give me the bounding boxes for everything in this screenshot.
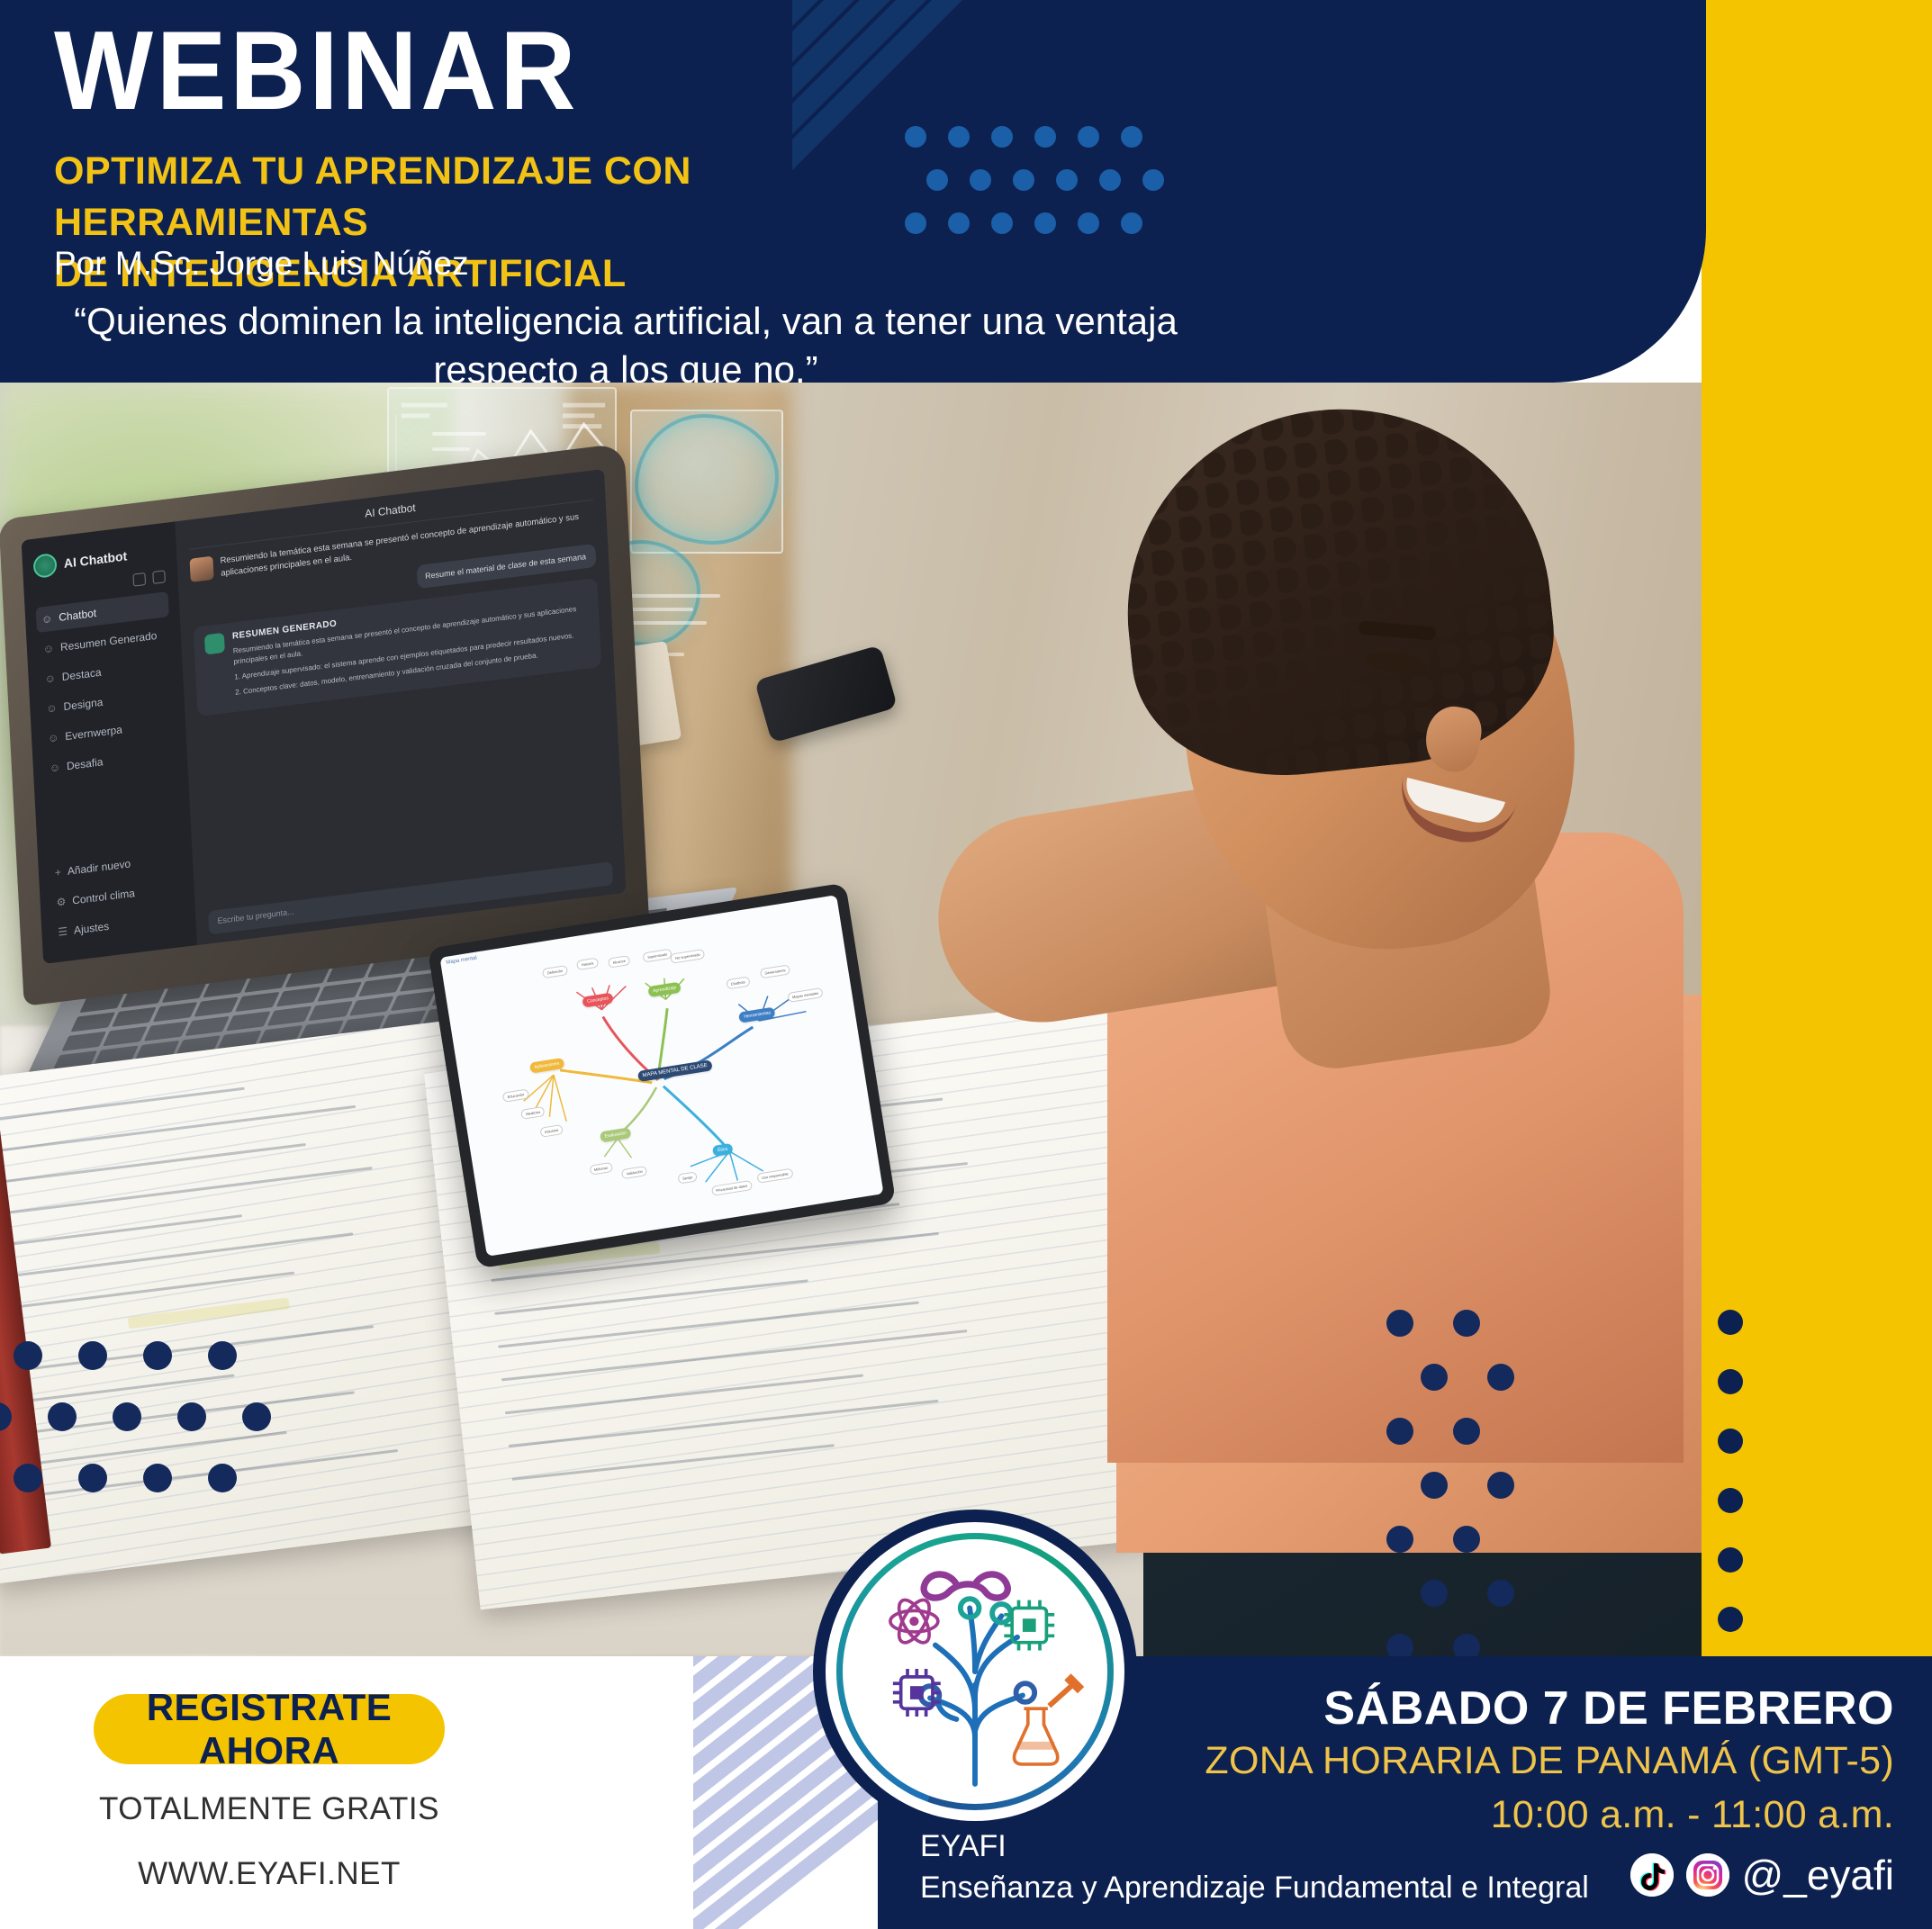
sidebar-item-label: Ajustes	[74, 920, 110, 937]
refresh-icon[interactable]	[152, 570, 166, 584]
generated-summary-card: RESUMEN GENERADO Resumiendo la temática …	[193, 578, 601, 717]
sidebar-item-label: Resumen Generado	[60, 629, 158, 654]
chatbot-sidebar: AI Chatbot ☺ Chatbot ☺ Resumen Gener	[22, 522, 197, 964]
sidebar-item-label: Destaca	[61, 666, 101, 683]
social-handle[interactable]: @_eyafi	[1742, 1851, 1894, 1899]
photo-dots-bottom-left	[14, 1341, 338, 1525]
hero-photo: AI Chatbot ☺ Chatbot ☺ Resumen Gener	[0, 383, 1702, 1656]
logo-gradient-ring	[836, 1533, 1114, 1810]
sidebar-item-label: Chatbot	[59, 607, 96, 624]
sparkle-icon	[204, 633, 225, 655]
tablet-screen: Mapa mental	[439, 895, 883, 1257]
chat-icon: ☺	[41, 612, 53, 626]
presenter-name: Por M.Sc. Jorge Luis Núñez	[54, 245, 469, 283]
gear-icon: ⚙	[56, 895, 66, 908]
subtitle-line-1: OPTIMIZA TU APRENDIZAJE CON HERRAMIENTAS	[54, 146, 954, 248]
sidebar-item-label: Añadir nuevo	[68, 857, 131, 878]
chat-icon: ☺	[50, 761, 61, 775]
tiktok-icon[interactable]	[1630, 1853, 1674, 1897]
chat-input[interactable]: Escribe tu pregunta...	[208, 861, 613, 934]
logo-outer-ring	[813, 1510, 1137, 1834]
quote-text: “Quienes dominen la inteligencia artific…	[36, 297, 1215, 383]
webinar-poster: AI Chatbot ☺ Chatbot ☺ Resumen Gener	[0, 0, 1932, 1929]
event-date: SÁBADO 7 DE FEBRERO	[1323, 1681, 1894, 1735]
logo-white-ring	[826, 1522, 1124, 1821]
photo-dots-bottom-right	[1386, 1310, 1514, 1656]
chatbot-logo-icon	[32, 553, 57, 579]
register-button[interactable]: REGISTRATE AHORA	[94, 1694, 445, 1764]
flask-icon	[1015, 1677, 1081, 1764]
avatar	[189, 556, 213, 582]
page-title: WEBINAR	[54, 13, 579, 130]
eyafi-logo	[813, 1510, 1137, 1834]
sidebar-item-label: Control clima	[72, 887, 135, 907]
sidebar-item-label: Designa	[63, 696, 103, 713]
yellow-side-bar	[1702, 0, 1932, 1656]
laptop-lid: AI Chatbot ☺ Chatbot ☺ Resumen Gener	[0, 443, 650, 1006]
plus-icon: +	[55, 866, 62, 879]
slider-icon: ☰	[58, 924, 68, 938]
poster-footer: REGISTRATE AHORA TOTALMENTE GRATIS WWW.E…	[0, 1656, 1932, 1929]
atom-icon	[890, 1595, 938, 1647]
event-time: 10:00 a.m. - 11:00 a.m.	[1491, 1793, 1894, 1837]
chat-icon: ☺	[43, 642, 55, 656]
social-links: @_eyafi	[1630, 1851, 1894, 1899]
header-dot-grid	[905, 126, 1164, 256]
tablet: Mapa mental	[428, 882, 897, 1268]
sidebar-footer: + Añadir nuevo ⚙ Control clima ☰ Ajustes	[49, 844, 187, 950]
sidebar-item-label: Desafia	[67, 755, 104, 772]
instagram-icon[interactable]	[1686, 1853, 1729, 1897]
chat-icon: ☺	[44, 672, 56, 686]
brand-tagline: Enseñanza y Aprendizaje Fundamental e In…	[920, 1870, 1589, 1906]
infinity-icon	[924, 1574, 1007, 1598]
chatbot-conversation: AI Chatbot Resumiendo la temática esta s…	[175, 469, 626, 945]
student-subject	[873, 383, 1702, 1656]
chatbot-app-name: AI Chatbot	[63, 548, 127, 571]
microchip-icon	[893, 1669, 941, 1717]
lock-icon[interactable]	[132, 572, 146, 587]
mind-map: MAPA MENTAL DE CLASE Conceptos Aprendiza…	[447, 908, 878, 1250]
chat-icon: ☺	[46, 701, 58, 716]
laptop-screen: AI Chatbot ☺ Chatbot ☺ Resumen Gener	[22, 469, 627, 964]
logo-face	[843, 1539, 1107, 1804]
website-url[interactable]: WWW.EYAFI.NET	[94, 1856, 445, 1892]
free-label: TOTALMENTE GRATIS	[94, 1791, 445, 1827]
yellow-bar-dot-column	[1718, 1310, 1743, 1666]
sidebar-item-label: Evernwerpa	[65, 723, 122, 743]
poster-header: WEBINAR OPTIMIZA TU APRENDIZAJE CON HERR…	[0, 0, 1706, 383]
event-timezone: ZONA HORARIA DE PANAMÁ (GMT-5)	[1205, 1739, 1894, 1783]
chat-icon: ☺	[48, 731, 59, 745]
